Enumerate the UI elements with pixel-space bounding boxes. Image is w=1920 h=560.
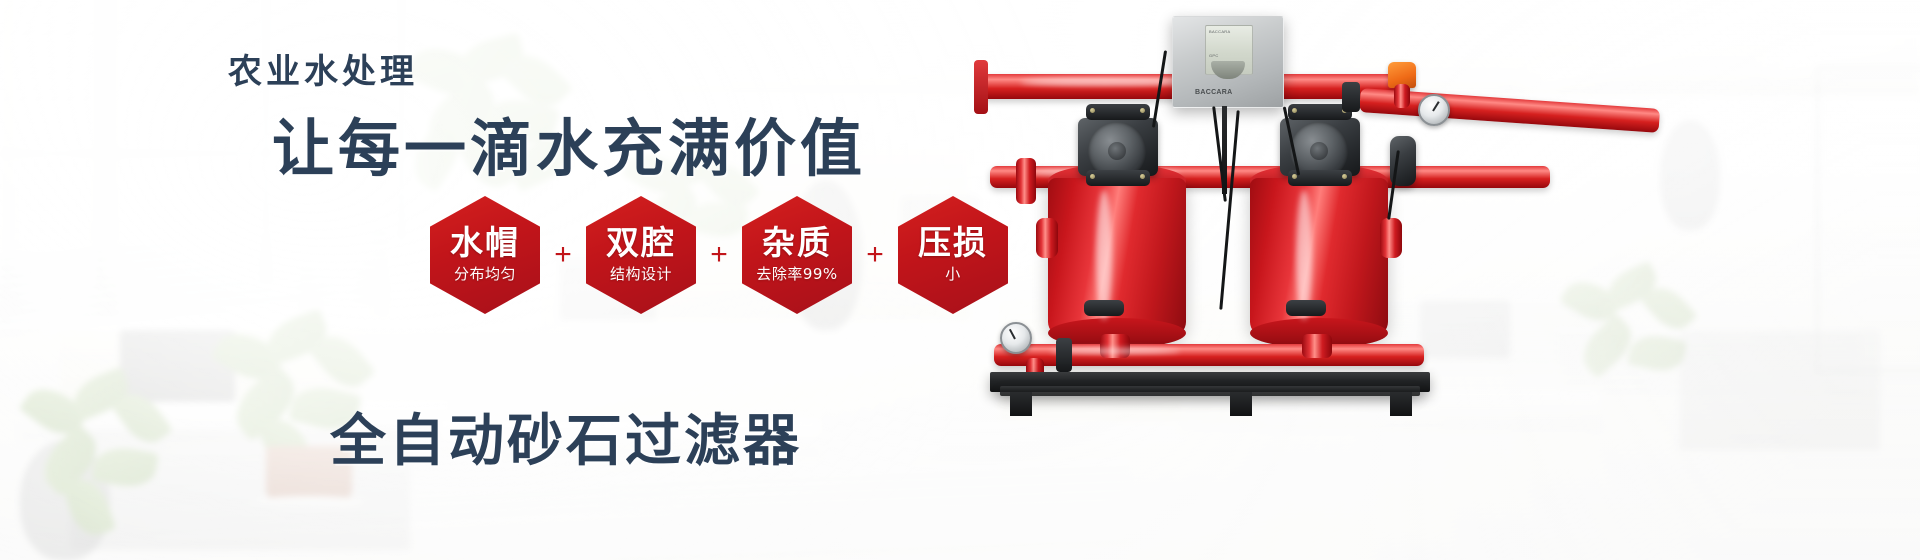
feature-badge-2-title: 双腔 [606, 226, 676, 261]
valve-bolt [1140, 108, 1145, 113]
valve-bolt [1342, 174, 1347, 179]
controller-enclosure: BACCARA GPC BACCARA [1172, 16, 1284, 108]
air-valve-riser [1394, 84, 1410, 108]
gauge-needle [1432, 101, 1440, 111]
feature-badge-2[interactable]: 双腔 结构设计 [586, 196, 696, 314]
feature-badge-4-title: 压损 [918, 226, 988, 261]
feature-badge-1-subtitle: 分布均匀 [454, 263, 516, 284]
skid-leg [1390, 392, 1412, 416]
feature-badge-1-title: 水帽 [450, 226, 520, 261]
valve-bolt [1292, 108, 1297, 113]
banner-eyebrow: 农业水处理 [228, 44, 418, 93]
feature-badge-3-title: 杂质 [762, 226, 832, 261]
tank-right-side-nozzle [1380, 218, 1402, 258]
banner-subheadline: 全自动砂石过滤器 [330, 396, 802, 477]
promo-banner: BACCARA GPC BACCARA 农业水处理 让每一滴水充满价值 [0, 0, 1920, 560]
controller-cover-knob [1211, 61, 1245, 79]
tank-right-clamp [1286, 300, 1326, 316]
valve-right-hub [1310, 142, 1328, 160]
skid-leg [1230, 392, 1252, 416]
controller-front-brand: BACCARA [1195, 89, 1233, 96]
feature-badge-2-subtitle: 结构设计 [610, 263, 672, 284]
manifold-clamp [1342, 82, 1360, 112]
controller-brand-label: BACCARA [1209, 29, 1230, 34]
plus-separator-2: + [696, 240, 742, 270]
pressure-gauge-top [1418, 94, 1450, 126]
feature-badge-row: 水帽 分布均匀 + 双腔 结构设计 + 杂质 去除率99% + 压损 小 [430, 196, 1008, 314]
plus-separator-1: + [540, 240, 586, 270]
valve-bolt [1140, 174, 1145, 179]
controller-model-label: GPC [1209, 53, 1219, 58]
banner-headline: 让每一滴水充满价值 [272, 98, 866, 188]
feature-badge-3[interactable]: 杂质 去除率99% [742, 196, 852, 314]
feature-badge-4[interactable]: 压损 小 [898, 196, 1008, 314]
feature-badge-3-subtitle: 去除率99% [756, 263, 837, 284]
feature-badge-1[interactable]: 水帽 分布均匀 [430, 196, 540, 314]
plus-separator-3: + [852, 240, 898, 270]
feature-badge-4-subtitle: 小 [945, 263, 961, 284]
tank-right-downpipe [1302, 334, 1332, 358]
tank-left-downpipe [1100, 334, 1130, 358]
valve-left-hub [1108, 142, 1126, 160]
